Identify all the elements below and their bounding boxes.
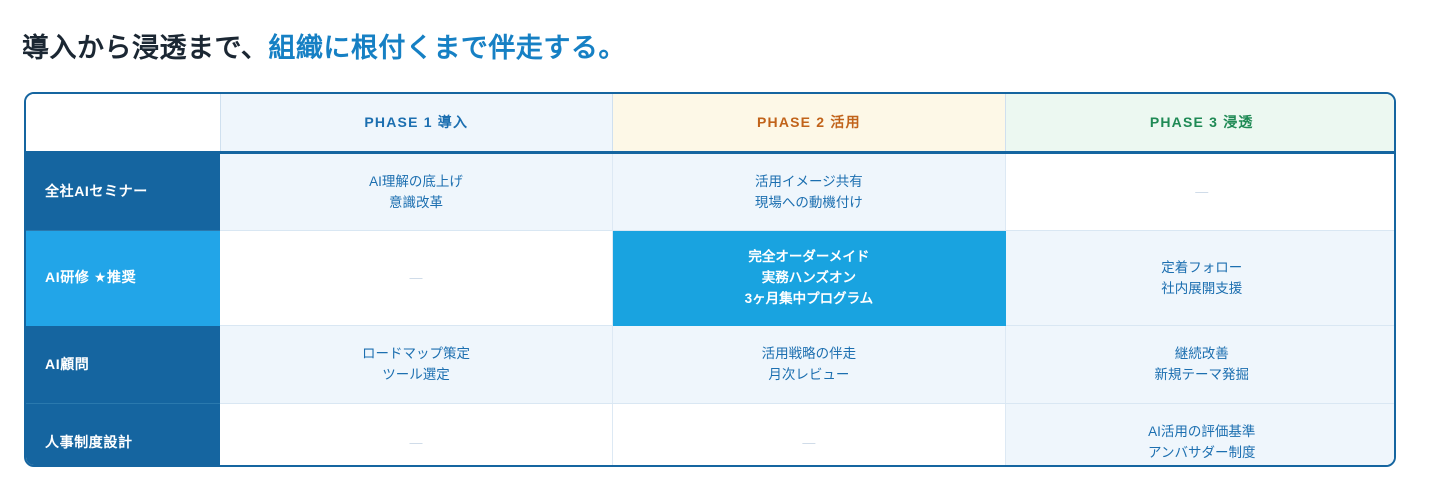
table-row: 全社AIセミナーAI理解の底上げ意識改革活用イメージ共有現場への動機付け— xyxy=(26,152,1396,230)
table-header-row: PHASE 1 導入 PHASE 2 活用 PHASE 3 浸透 xyxy=(26,94,1396,152)
phase-matrix-table-wrapper: PHASE 1 導入 PHASE 2 活用 PHASE 3 浸透 全社AIセミナ… xyxy=(24,92,1396,467)
cell-ai-komon-phase3: 継続改善新規テーマ発掘 xyxy=(1005,325,1396,403)
cell-line: 意識改革 xyxy=(230,192,602,213)
table-header: PHASE 1 導入 PHASE 2 活用 PHASE 3 浸透 xyxy=(26,94,1396,152)
row-label-zensha-ai-seminar: 全社AIセミナー xyxy=(26,152,220,230)
empty-cell-dash: — xyxy=(410,432,423,453)
cell-jinji-seido-sekkei-phase2: — xyxy=(613,403,1006,467)
cell-line: 活用イメージ共有 xyxy=(623,171,995,192)
page-title-dark-part: 導入から浸透まで、 xyxy=(22,33,268,63)
cell-line: AI理解の底上げ xyxy=(230,171,602,192)
cell-line: 定着フォロー xyxy=(1016,257,1388,278)
empty-cell-dash: — xyxy=(1195,181,1208,202)
cell-line: ロードマップ策定 xyxy=(230,343,602,364)
empty-cell-dash: — xyxy=(802,432,815,453)
cell-line: 活用戦略の伴走 xyxy=(623,343,995,364)
empty-cell-dash: — xyxy=(410,267,423,288)
cell-zensha-ai-seminar-phase2: 活用イメージ共有現場への動機付け xyxy=(613,152,1006,230)
cell-line: アンバサダー制度 xyxy=(1016,442,1388,463)
table-row: AI顧問ロードマップ策定ツール選定活用戦略の伴走月次レビュー継続改善新規テーマ発… xyxy=(26,325,1396,403)
column-header-phase2: PHASE 2 活用 xyxy=(613,94,1006,152)
cell-zensha-ai-seminar-phase3: — xyxy=(1005,152,1396,230)
cell-line: 完全オーダーメイド xyxy=(623,246,995,267)
row-label-ai-kenshu: AI研修 ★推奨 xyxy=(26,230,220,325)
row-label-jinji-seido-sekkei: 人事制度設計 xyxy=(26,403,220,467)
cell-line: 現場への動機付け xyxy=(623,192,995,213)
cell-line: 新規テーマ発掘 xyxy=(1016,364,1388,385)
page-title-accent-part: 組織に根付くまで伴走する。 xyxy=(268,33,626,63)
table-row: AI研修 ★推奨—完全オーダーメイド実務ハンズオン3ヶ月集中プログラム定着フォロ… xyxy=(26,230,1396,325)
cell-line: 実務ハンズオン xyxy=(623,267,995,288)
table-body: 全社AIセミナーAI理解の底上げ意識改革活用イメージ共有現場への動機付け—AI研… xyxy=(26,152,1396,467)
cell-line: AI活用の評価基準 xyxy=(1016,421,1388,442)
cell-jinji-seido-sekkei-phase3: AI活用の評価基準アンバサダー制度 xyxy=(1005,403,1396,467)
cell-ai-komon-phase1: ロードマップ策定ツール選定 xyxy=(220,325,613,403)
row-label-ai-komon: AI顧問 xyxy=(26,325,220,403)
cell-ai-kenshu-phase1: — xyxy=(220,230,613,325)
cell-ai-komon-phase2: 活用戦略の伴走月次レビュー xyxy=(613,325,1006,403)
cell-line: ツール選定 xyxy=(230,364,602,385)
cell-line: 社内展開支援 xyxy=(1016,278,1388,299)
page-root: 導入から浸透まで、組織に根付くまで伴走する。 PHASE 1 導入 PHASE … xyxy=(0,0,1440,495)
cell-line: 3ヶ月集中プログラム xyxy=(623,288,995,309)
cell-ai-kenshu-phase3: 定着フォロー社内展開支援 xyxy=(1005,230,1396,325)
cell-jinji-seido-sekkei-phase1: — xyxy=(220,403,613,467)
cell-zensha-ai-seminar-phase1: AI理解の底上げ意識改革 xyxy=(220,152,613,230)
page-title: 導入から浸透まで、組織に根付くまで伴走する。 xyxy=(22,30,626,66)
cell-ai-kenshu-phase2: 完全オーダーメイド実務ハンズオン3ヶ月集中プログラム xyxy=(613,230,1006,325)
column-header-phase1: PHASE 1 導入 xyxy=(220,94,613,152)
cell-line: 月次レビュー xyxy=(623,364,995,385)
table-corner-cell xyxy=(26,94,220,152)
cell-line: 継続改善 xyxy=(1016,343,1388,364)
column-header-phase3: PHASE 3 浸透 xyxy=(1005,94,1396,152)
table-row: 人事制度設計——AI活用の評価基準アンバサダー制度 xyxy=(26,403,1396,467)
phase-matrix-table: PHASE 1 導入 PHASE 2 活用 PHASE 3 浸透 全社AIセミナ… xyxy=(26,94,1396,467)
